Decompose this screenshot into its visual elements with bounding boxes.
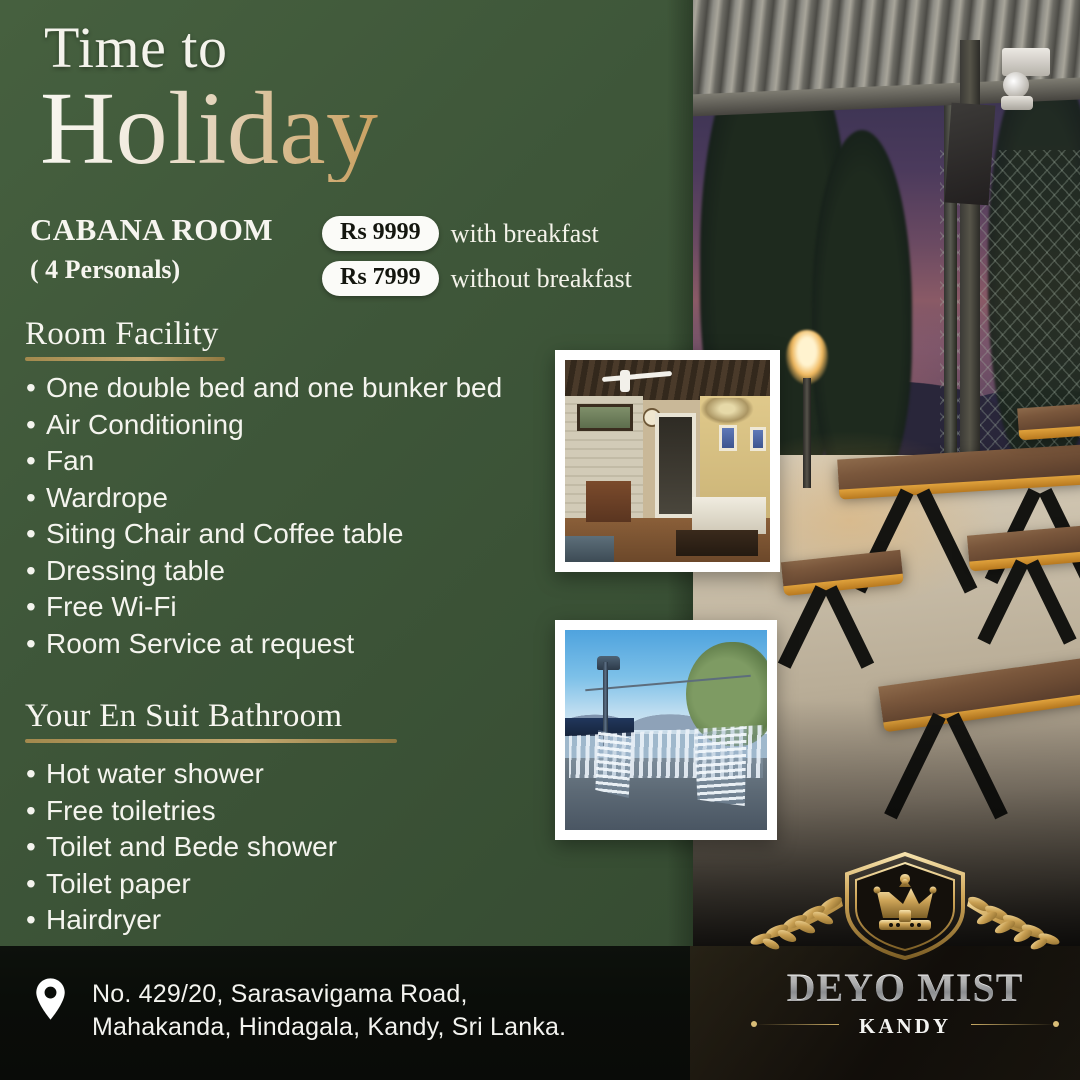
camera-bracket xyxy=(1001,96,1033,110)
list-item: One double bed and one bunker bed xyxy=(26,370,502,407)
wall-painting xyxy=(577,404,632,430)
lamp-post-head xyxy=(597,656,619,670)
headline-line-2: Holiday xyxy=(40,76,379,182)
room-type-title: CABANA ROOM xyxy=(30,212,273,248)
section-heading-label: Room Facility xyxy=(25,316,219,352)
wood-ceiling xyxy=(565,360,770,400)
fan-motor xyxy=(620,370,630,392)
photo-frame xyxy=(565,360,770,562)
bench-leg-x xyxy=(1000,558,1054,646)
terrace-seating-photo xyxy=(565,630,767,830)
doorway xyxy=(655,413,696,518)
list-item: Fan xyxy=(26,443,502,480)
price-badge: Rs 9999 xyxy=(322,216,439,251)
section-heading-room-facility: Room Facility xyxy=(25,316,225,361)
window xyxy=(719,425,737,451)
price-note: without breakfast xyxy=(451,264,632,294)
room-interior-photo xyxy=(565,360,770,562)
list-item: Wardrope xyxy=(26,480,502,517)
bed-corner xyxy=(565,536,614,562)
heading-underline xyxy=(25,357,225,361)
price-badge: Rs 7999 xyxy=(322,261,439,296)
price-note: with breakfast xyxy=(451,219,599,249)
shield-icon xyxy=(841,852,969,960)
ornament-dot xyxy=(1053,1021,1059,1027)
room-interior-photo-card xyxy=(555,350,780,572)
list-item: Dressing table xyxy=(26,553,502,590)
list-item: Toilet and Bede shower xyxy=(26,829,337,866)
heading-underline xyxy=(25,739,397,743)
photo-frame xyxy=(565,630,767,830)
sofa xyxy=(692,497,766,533)
bathroom-list: Hot water shower Free toiletries Toilet … xyxy=(26,756,337,939)
room-occupancy: ( 4 Personals) xyxy=(30,255,180,285)
list-item: Free toiletries xyxy=(26,793,337,830)
list-item: Air Conditioning xyxy=(26,407,502,444)
list-item: Siting Chair and Coffee table xyxy=(26,516,502,553)
camera-housing-icon xyxy=(1002,48,1050,76)
price-row-without-breakfast: Rs 7999 without breakfast xyxy=(322,261,632,296)
chandelier-icon xyxy=(700,398,753,424)
lamp-pole xyxy=(803,378,811,488)
terrace-photo-card xyxy=(555,620,777,840)
lamp-glow xyxy=(786,330,828,384)
wrought-iron-chair xyxy=(595,730,631,798)
wooden-bench-slab xyxy=(1017,404,1080,435)
brand-name: DEYO MIST xyxy=(745,964,1065,1011)
price-row-with-breakfast: Rs 9999 with breakfast xyxy=(322,216,599,251)
room-facility-list: One double bed and one bunker bed Air Co… xyxy=(26,370,502,662)
list-item: Hairdryer xyxy=(26,902,337,939)
footer-address: No. 429/20, Sarasavigama Road, Mahakanda… xyxy=(92,978,566,1044)
location-pin-icon xyxy=(35,978,66,1020)
brand-city: KANDY xyxy=(745,1014,1065,1039)
list-item: Hot water shower xyxy=(26,756,337,793)
poster-canvas: Time to Holiday CABANA ROOM ( 4 Personal… xyxy=(0,0,1080,1080)
window xyxy=(750,427,766,451)
section-heading-label: Your En Suit Bathroom xyxy=(25,698,342,734)
section-heading-bathroom: Your En Suit Bathroom xyxy=(25,698,397,743)
bench-leg-x xyxy=(800,584,852,670)
security-camera-icon xyxy=(1003,72,1029,98)
ornament-line xyxy=(971,1024,1055,1025)
wooden-cabinet xyxy=(586,481,631,521)
list-item: Room Service at request xyxy=(26,626,502,663)
mounting-panel xyxy=(945,103,996,206)
list-item: Toilet paper xyxy=(26,866,337,903)
coffee-table xyxy=(676,530,758,556)
list-item: Free Wi-Fi xyxy=(26,589,502,626)
wrought-iron-chair xyxy=(694,726,747,806)
address-line-1: No. 429/20, Sarasavigama Road, xyxy=(92,978,566,1011)
brand-logo: DEYO MIST KANDY xyxy=(745,852,1065,1067)
address-line-2: Mahakanda, Hindagala, Kandy, Sri Lanka. xyxy=(92,1011,566,1044)
